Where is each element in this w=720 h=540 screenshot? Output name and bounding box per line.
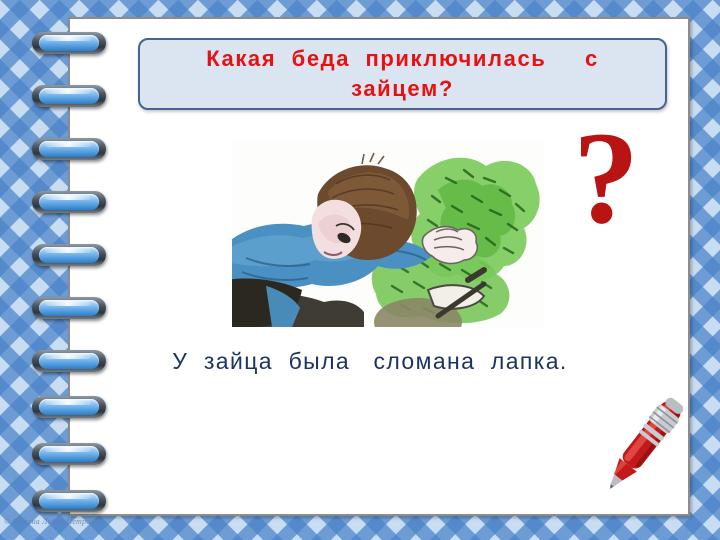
red-ballpoint-pen [592, 388, 696, 498]
ring-gloss-icon [45, 301, 91, 306]
answer-sentence: У зайца была сломана лапка. [100, 348, 640, 375]
question-mark-glyph: ? [560, 126, 652, 246]
pen-artwork [592, 388, 696, 498]
author-watermark: © Фокина Лидия Петровна [4, 517, 102, 526]
ring-gloss-icon [45, 36, 91, 41]
ring-gloss-icon [45, 447, 91, 452]
question-title-text: Какая беда приключилась с зайцем? [196, 44, 609, 103]
spiral-ring-9 [32, 443, 106, 465]
spiral-ring-1 [32, 32, 106, 54]
spiral-ring-6 [32, 297, 106, 319]
spiral-ring-5 [32, 244, 106, 266]
ring-gloss-icon [45, 142, 91, 147]
ring-gloss-icon [45, 354, 91, 359]
ring-gloss-icon [45, 248, 91, 253]
story-illustration [232, 140, 544, 327]
spiral-ring-3 [32, 138, 106, 160]
illustration-artwork [232, 140, 544, 327]
ring-gloss-icon [45, 494, 91, 499]
spiral-ring-4 [32, 191, 106, 213]
spiral-ring-2 [32, 85, 106, 107]
ring-gloss-icon [45, 89, 91, 94]
spiral-ring-8 [32, 396, 106, 418]
question-title-box: Какая беда приключилась с зайцем? [138, 38, 667, 110]
spiral-ring-7 [32, 350, 106, 372]
ring-gloss-icon [45, 400, 91, 405]
slide-canvas: Какая беда приключилась с зайцем? [0, 0, 720, 540]
spiral-ring-10 [32, 490, 106, 512]
ring-gloss-icon [45, 195, 91, 200]
